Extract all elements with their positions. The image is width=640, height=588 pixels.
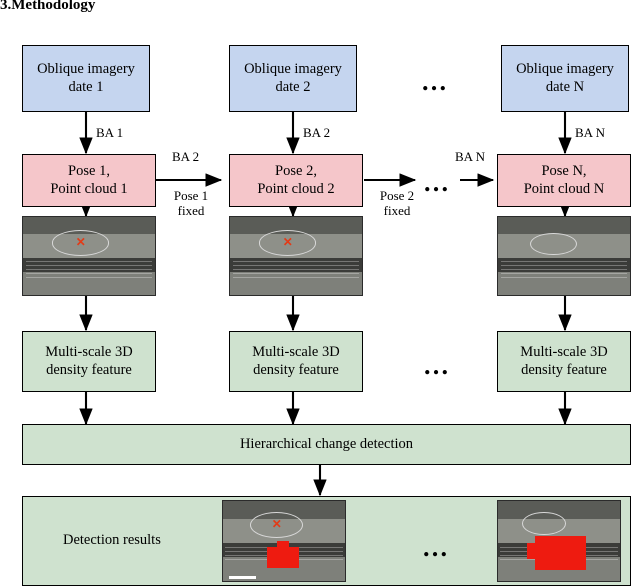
detection-results-label: Detection results [63,532,161,550]
ba-label-1: BA 1 [96,126,123,141]
oblique-imagery-box-n[interactable]: Oblique imagery date N [501,45,629,112]
marker-x-1: ✕ [76,236,86,248]
ellipsis-imagery-row: … [421,69,449,95]
ellipsis-feature-row: … [423,353,451,379]
oblique-imagery-label-n: Oblique imagery date N [516,61,614,96]
ellipsis-results-row: … [422,535,450,561]
point-cloud-thumbnail-2[interactable]: ✕ [229,216,363,296]
density-feature-box-2[interactable]: Multi-scale 3D density feature [229,331,363,392]
pose-box-2[interactable]: Pose 2, Point cloud 2 [229,154,363,207]
oblique-imagery-label-2: Oblique imagery date 2 [244,61,342,96]
change-region-nb [527,543,542,559]
pose-fixed-label-2: Pose 2 fixed [369,189,425,219]
oblique-imagery-box-1[interactable]: Oblique imagery date 1 [22,45,150,112]
point-cloud-thumbnail-n[interactable] [497,216,631,296]
pose-box-n[interactable]: Pose N, Point cloud N [497,154,631,207]
hierarchical-change-detection-label: Hierarchical change detection [240,436,413,454]
marker-x-result-1: ✕ [272,518,282,530]
oblique-imagery-box-2[interactable]: Oblique imagery date 2 [229,45,357,112]
change-region-1b [277,541,289,551]
density-feature-label-1: Multi-scale 3D density feature [45,344,132,379]
ellipsis-pose-row: … [423,170,451,196]
density-feature-box-1[interactable]: Multi-scale 3D density feature [22,331,156,392]
pose-label-1: Pose 1, Point cloud 1 [50,163,127,198]
oblique-imagery-label-1: Oblique imagery date 1 [37,61,135,96]
pose-label-n: Pose N, Point cloud N [524,163,605,198]
density-feature-box-n[interactable]: Multi-scale 3D density feature [497,331,631,392]
marker-ellipse-result-n [522,512,565,535]
detection-result-thumbnail-n[interactable] [497,500,621,582]
ba-link-label-2: BA 2 [172,150,199,165]
density-feature-label-n: Multi-scale 3D density feature [520,344,607,379]
pose-box-1[interactable]: Pose 1, Point cloud 1 [22,154,156,207]
pose-label-2: Pose 2, Point cloud 2 [257,163,334,198]
hierarchical-change-detection-box[interactable]: Hierarchical change detection [22,424,631,465]
change-region-n [535,536,586,570]
pose-fixed-label-1: Pose 1 fixed [163,189,219,219]
scale-bar-1 [229,576,256,579]
density-feature-label-2: Multi-scale 3D density feature [252,344,339,379]
ba-label-2: BA 2 [303,126,330,141]
marker-ellipse-n [530,233,577,255]
point-cloud-thumbnail-1[interactable]: ✕ [22,216,156,296]
detection-result-thumbnail-1[interactable]: ✕ [222,500,346,582]
marker-x-2: ✕ [283,236,293,248]
ba-label-n: BA N [575,126,605,141]
ba-link-label-n: BA N [455,150,485,165]
